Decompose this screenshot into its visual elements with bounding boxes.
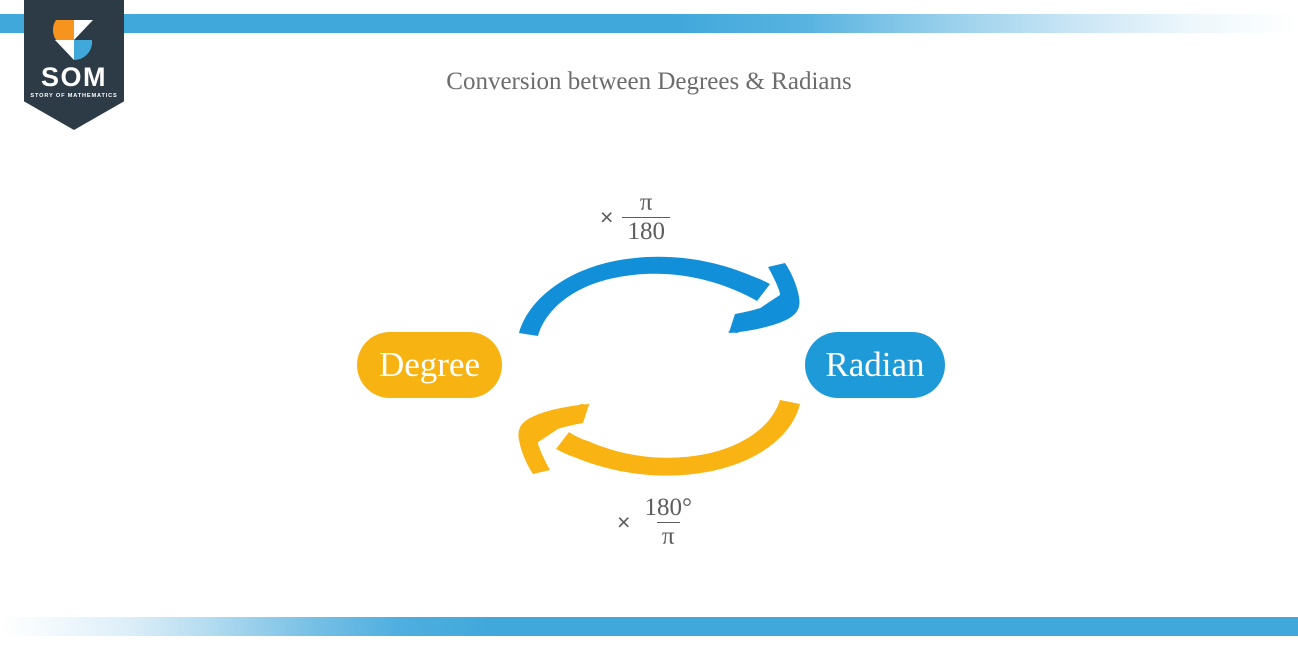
node-degree-label: Degree [379,345,480,385]
formula-radian-to-degree: × 180° π [617,495,697,551]
node-degree[interactable]: Degree [357,332,502,398]
node-radian[interactable]: Radian [805,332,945,398]
fraction-180-over-pi: 180° π [639,495,697,551]
formula-degree-to-radian: × π 180 [600,190,670,246]
arrow-degree-to-radian [519,257,800,336]
fraction-denominator: 180 [622,217,670,245]
arrow-radian-to-degree [518,400,800,476]
node-radian-label: Radian [825,345,924,385]
multiply-symbol: × [600,204,613,231]
fraction-pi-over-180: π 180 [622,190,670,246]
multiply-symbol: × [617,509,630,536]
slide-canvas: SOM STORY OF MATHEMATICS Conversion betw… [0,0,1298,649]
fraction-numerator: 180° [639,495,697,522]
fraction-numerator: π [635,190,658,217]
fraction-denominator: π [657,522,680,550]
conversion-diagram [0,0,1298,649]
